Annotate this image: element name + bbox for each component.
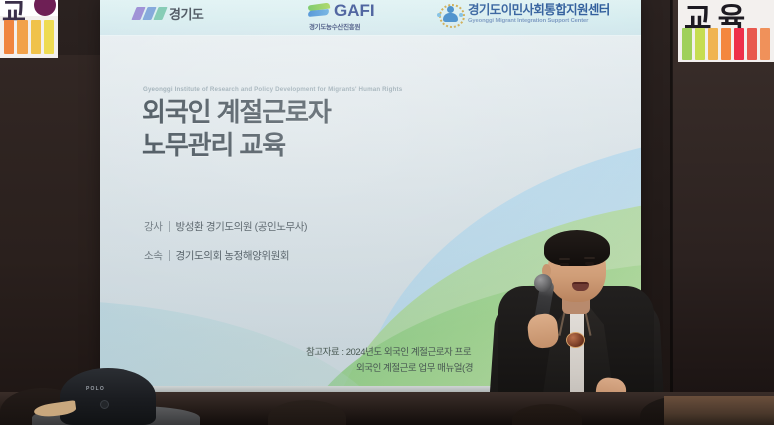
slide-meta-instructor: 강사 방성환 경기도의원 (공인노무사) [144,219,307,234]
slide-reference-line-1: 참고자료 : 2024년도 외국인 계절근로자 프로 [306,344,471,358]
slide-title: 외국인 계절근로자 노무관리 교육 [142,96,331,162]
gafi-wave-icon [308,3,330,19]
logo-gyeonggi-do: 경기도 [134,4,203,23]
side-monitor-right-bars [682,28,770,60]
speaker-hair [544,230,610,266]
microphone-head-icon [534,274,552,292]
speaker-eye-left [560,263,569,266]
wall-seam-right [670,0,673,425]
side-monitor-right: 교육 [678,0,774,62]
slide-logo-band: 경기도 GAFI 경기도농수산진흥원 [100,0,641,36]
speaker-eye-right [585,262,594,265]
logo-migrant-center: 경기도이민사회통합지원센터 Gyeonggi Migrant Integrati… [437,2,610,26]
side-monitor-left-bars [4,20,54,54]
side-monitor-left: 교 [0,0,58,58]
speaker-eyebrow-left [559,258,570,260]
audience-cap [60,368,156,425]
gyeonggi-do-mark-icon [134,7,165,20]
screenshot-root: 교 교육 경기도 [0,0,774,425]
slide-eyebrow-text: Gyeonggi Institute of Research and Polic… [143,86,402,93]
slide-meta-affiliation-key: 소속 [144,248,163,263]
speaker-mouth [572,282,589,291]
speaker-eyebrow-right [584,257,595,259]
logo-migrant-center-label: 경기도이민사회통합지원센터 [468,4,610,18]
podium-surface [664,396,774,425]
slide-meta-instructor-key: 강사 [144,219,163,234]
logo-gafi: GAFI 경기도농수산진흥원 [308,1,375,31]
logo-migrant-center-sublabel: Gyeonggi Migrant Integration Support Cen… [468,18,610,24]
slide-meta-instructor-value: 방성환 경기도의원 (공인노무사) [176,219,308,234]
audience-cap-logo-text: POLO [86,386,105,392]
slide-reference-line-2: 외국인 계절근로 업무 매뉴얼(경 [356,360,473,374]
migrant-center-person-icon [437,2,463,26]
logo-gafi-sublabel: 경기도농수산진흥원 [309,21,360,31]
logo-gafi-label: GAFI [334,1,375,21]
slide-meta-divider [169,221,170,232]
audience-cap-button [100,400,109,409]
right-wall-panel [672,0,774,425]
speaker-hand-holding-microphone [526,313,559,350]
slide-meta-affiliation-value: 경기도의회 농정해양위원회 [176,248,290,263]
speaker-bolo-pendant [566,332,585,348]
slide-meta-divider-2 [169,250,170,261]
slide-meta-affiliation: 소속 경기도의회 농정해양위원회 [144,248,289,263]
logo-gyeonggi-do-label: 경기도 [169,4,203,23]
